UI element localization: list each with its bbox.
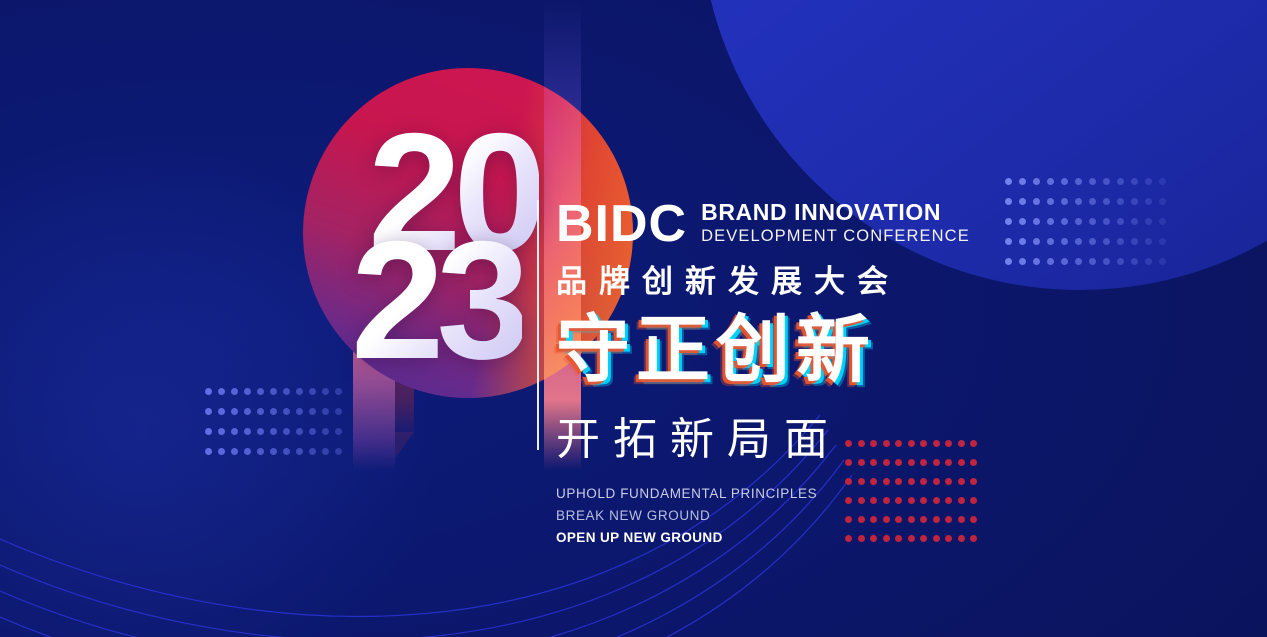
grid-dot [1131,238,1138,245]
grid-dot [1061,258,1068,265]
grid-dot [1033,218,1040,225]
dot-grid-left [205,388,348,468]
grid-dot [1047,238,1054,245]
grid-dot [296,448,303,455]
grid-dot [296,408,303,415]
grid-dot [283,408,290,415]
grid-dot [1089,178,1096,185]
grid-dot [1159,238,1166,245]
brand-chinese-name: 品牌创新发展大会 [556,256,986,301]
grid-dot [1019,258,1026,265]
grid-dot [244,388,251,395]
year-bottom-digits: 23 [351,216,522,384]
vertical-divider [537,200,539,450]
english-slogan-line-3: OPEN UP NEW GROUND [556,527,986,549]
grid-dot [231,408,238,415]
brand-acronym-row: BIDC BRAND INNOVATION DEVELOPMENT CONFER… [556,200,986,250]
grid-dot [1145,258,1152,265]
grid-dot [270,408,277,415]
grid-dot [257,428,264,435]
grid-dot [270,388,277,395]
grid-dot [1117,258,1124,265]
grid-dot [257,388,264,395]
grid-dot [1145,198,1152,205]
grid-dot [1117,238,1124,245]
grid-dot [283,428,290,435]
grid-dot [1089,218,1096,225]
brand-english-line1: BRAND INNOVATION [701,200,970,226]
brand-english-block: BRAND INNOVATION DEVELOPMENT CONFERENCE [701,200,970,250]
grid-dot [1061,178,1068,185]
grid-dot [257,408,264,415]
grid-dot [309,408,316,415]
grid-dot [335,388,342,395]
grid-dot [1103,238,1110,245]
grid-dot [283,388,290,395]
grid-dot [1047,198,1054,205]
grid-dot [1159,258,1166,265]
grid-dot [1019,238,1026,245]
grid-dot [1145,218,1152,225]
grid-dot [205,428,212,435]
grid-dot [1005,258,1012,265]
brand-acronym: BIDC [556,200,687,250]
grid-dot [218,408,225,415]
grid-dot [205,408,212,415]
grid-dot [1089,258,1096,265]
grid-dot [1047,178,1054,185]
grid-dot [1131,198,1138,205]
grid-dot [1033,238,1040,245]
grid-dot [257,448,264,455]
grid-dot [270,428,277,435]
grid-dot [1159,198,1166,205]
grid-dot [296,388,303,395]
grid-dot [1061,198,1068,205]
grid-dot [1019,178,1026,185]
grid-dot [1033,198,1040,205]
grid-dot [218,428,225,435]
grid-dot [1103,258,1110,265]
grid-dot [296,428,303,435]
grid-dot [322,408,329,415]
grid-dot [1103,198,1110,205]
grid-dot [231,388,238,395]
grid-dot [1131,218,1138,225]
brand-english-line2: DEVELOPMENT CONFERENCE [701,226,970,246]
grid-dot [1019,198,1026,205]
grid-dot [1019,218,1026,225]
grid-dot [309,428,316,435]
grid-dot [231,428,238,435]
grid-dot [205,388,212,395]
grid-dot [1033,258,1040,265]
grid-dot [1075,238,1082,245]
grid-dot [1117,178,1124,185]
grid-dot [1103,218,1110,225]
grid-dot [244,408,251,415]
grid-dot [1159,178,1166,185]
grid-dot [283,448,290,455]
grid-dot [1047,218,1054,225]
grid-dot [1131,178,1138,185]
slogan-main: 守正创新 [556,311,986,389]
slogan-sub: 开拓新局面 [556,403,986,467]
grid-dot [1075,178,1082,185]
grid-dot [1005,218,1012,225]
grid-dot [1005,238,1012,245]
grid-dot [1061,218,1068,225]
grid-dot [1075,258,1082,265]
grid-dot [1117,198,1124,205]
english-slogan-line-1: UPHOLD FUNDAMENTAL PRINCIPLES [556,483,986,505]
grid-dot [1033,178,1040,185]
english-slogan-line-2: BREAK NEW GROUND [556,505,986,527]
grid-dot [205,448,212,455]
grid-dot [1047,258,1054,265]
grid-dot [244,448,251,455]
grid-dot [1075,218,1082,225]
grid-dot [1131,258,1138,265]
grid-dot [1061,238,1068,245]
grid-dot [1075,198,1082,205]
grid-dot [1117,218,1124,225]
english-slogan-block: UPHOLD FUNDAMENTAL PRINCIPLES BREAK NEW … [556,483,986,549]
grid-dot [309,388,316,395]
conference-poster: 20 23 BIDC BRAND INNOVATION DEVELOPMENT … [0,0,1267,637]
grid-dot [1145,178,1152,185]
year-2023: 20 23 [352,108,552,408]
grid-dot [1159,218,1166,225]
content-block: BIDC BRAND INNOVATION DEVELOPMENT CONFER… [556,200,986,549]
grid-dot [1089,198,1096,205]
grid-dot [322,388,329,395]
grid-dot [1005,178,1012,185]
grid-dot [335,408,342,415]
grid-dot [322,428,329,435]
dot-grid-top-right [1005,178,1173,278]
grid-dot [270,448,277,455]
grid-dot [335,448,342,455]
grid-dot [1089,238,1096,245]
grid-dot [231,448,238,455]
grid-dot [1103,178,1110,185]
grid-dot [218,388,225,395]
grid-dot [322,448,329,455]
grid-dot [335,428,342,435]
grid-dot [218,448,225,455]
grid-dot [1005,198,1012,205]
grid-dot [244,428,251,435]
grid-dot [1145,238,1152,245]
grid-dot [309,448,316,455]
